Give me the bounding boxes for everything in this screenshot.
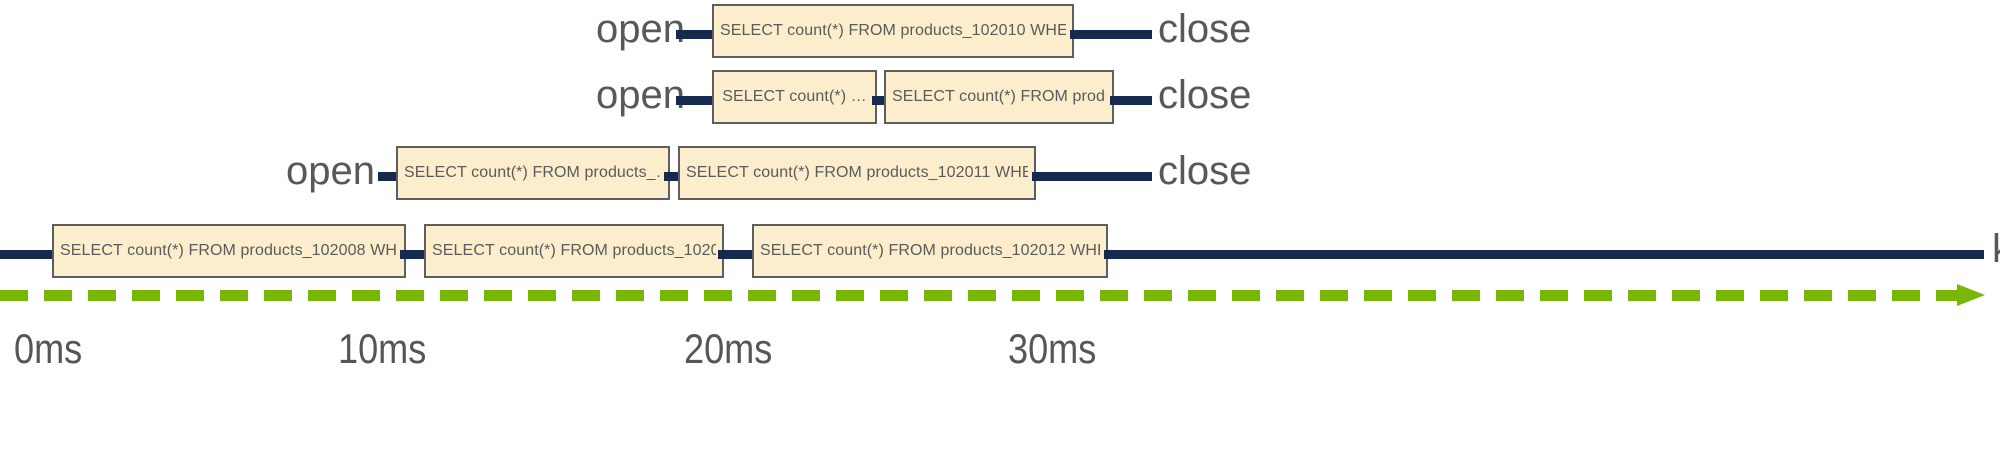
tick-label-10ms: 10ms <box>338 325 426 373</box>
lane-3-query-box-1[interactable]: SELECT count(*) FROM products_… <box>396 146 670 200</box>
timeline-lane-1: open SELECT count(*) FROM products_10201… <box>0 4 2000 64</box>
tick-label-20ms: 20ms <box>684 325 772 373</box>
lane-2-query-text-1: SELECT count(*) … <box>722 88 867 106</box>
timeline-lane-2: open SELECT count(*) … SELECT count(*) F… <box>0 70 2000 130</box>
timeline-diagram: open SELECT count(*) FROM products_10201… <box>0 0 2000 476</box>
lane-3-close-connector <box>1032 172 1152 181</box>
lane-4-start-connector <box>0 250 58 259</box>
lane-4-keep-label: keep <box>1992 219 2000 279</box>
lane-4-query-text-2: SELECT count(*) FROM products_102009 .. <box>432 242 716 260</box>
lane-1-close-label: close <box>1158 0 1251 59</box>
lane-4-query-text-1: SELECT count(*) FROM products_102008 WHE… <box>60 242 398 260</box>
lane-4-query-box-1[interactable]: SELECT count(*) FROM products_102008 WHE… <box>52 224 406 278</box>
lane-3-open-label: open <box>250 141 375 201</box>
arrow-right-icon <box>1957 284 1985 306</box>
lane-1-query-box-1[interactable]: SELECT count(*) FROM products_102010 WHE… <box>712 4 1074 58</box>
timeline-lane-4: SELECT count(*) FROM products_102008 WHE… <box>0 224 2000 284</box>
lane-2-close-label: close <box>1158 65 1251 125</box>
lane-3-query-text-2: SELECT count(*) FROM products_102011 WHE… <box>686 164 1028 182</box>
lane-4-query-box-2[interactable]: SELECT count(*) FROM products_102009 .. <box>424 224 724 278</box>
time-axis <box>0 285 2000 307</box>
tick-label-30ms: 30ms <box>1008 325 1096 373</box>
time-axis-tick-labels: 0ms 10ms 20ms 30ms <box>0 325 2000 385</box>
lane-1-open-connector <box>676 30 716 39</box>
lane-1-open-label: open <box>560 0 685 59</box>
lane-3-query-text-1: SELECT count(*) FROM products_… <box>404 164 662 182</box>
lane-2-query-text-2: SELECT count(*) FROM produc <box>892 88 1106 106</box>
lane-2-open-connector <box>676 96 716 105</box>
lane-2-query-box-2[interactable]: SELECT count(*) FROM produc <box>884 70 1114 124</box>
lane-4-query-text-3: SELECT count(*) FROM products_102012 WHE… <box>760 242 1100 260</box>
lane-4-keep-connector <box>1104 250 1984 259</box>
lane-3-query-box-2[interactable]: SELECT count(*) FROM products_102011 WHE… <box>678 146 1036 200</box>
time-axis-dashed-line <box>0 290 1965 301</box>
lane-3-close-label: close <box>1158 141 1251 201</box>
tick-label-0ms: 0ms <box>14 325 82 373</box>
lane-1-query-text-1: SELECT count(*) FROM products_102010 WHE… <box>720 22 1066 40</box>
lane-2-query-box-1[interactable]: SELECT count(*) … <box>712 70 877 124</box>
timeline-lane-3: open SELECT count(*) FROM products_… SEL… <box>0 146 2000 206</box>
lane-1-close-connector <box>1070 30 1152 39</box>
lane-2-close-connector <box>1110 96 1152 105</box>
lane-2-open-label: open <box>560 65 685 125</box>
lane-4-query-box-3[interactable]: SELECT count(*) FROM products_102012 WHE… <box>752 224 1108 278</box>
